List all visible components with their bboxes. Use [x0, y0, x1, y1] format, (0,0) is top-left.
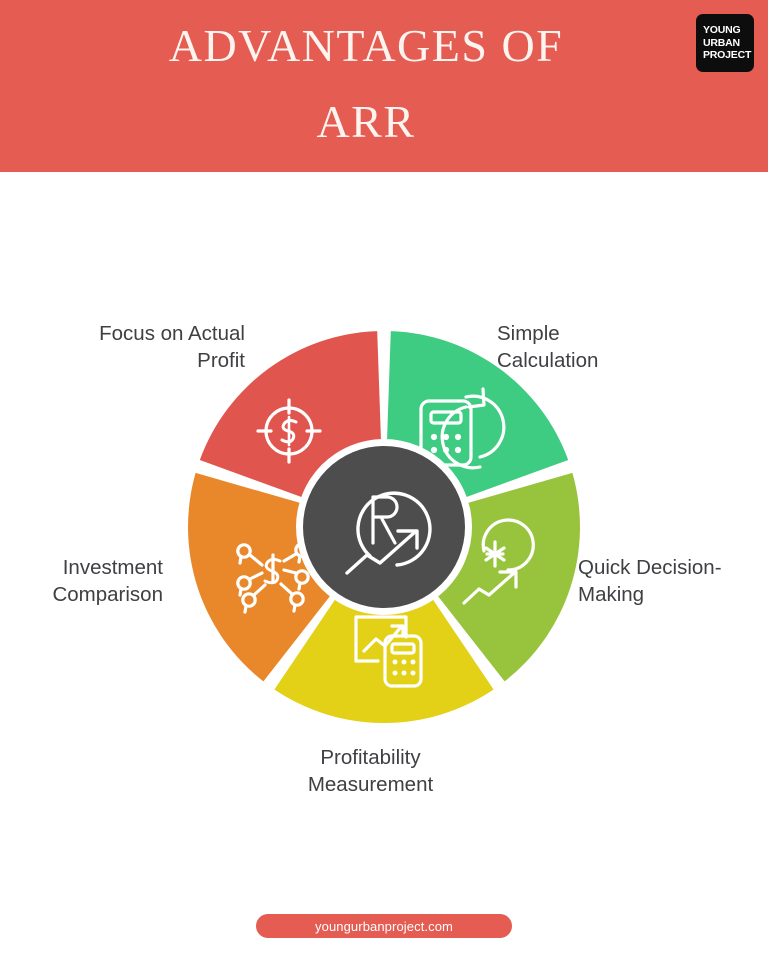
- label-investment-comparison: Investment Comparison: [10, 554, 163, 609]
- page-title: ADVANTAGES OF ARR: [66, 8, 666, 160]
- logo-line1: YOUNG: [703, 24, 754, 37]
- pie-wheel: [184, 327, 584, 727]
- website-url: youngurbanproject.com: [315, 919, 453, 934]
- logo-line2: URBAN: [703, 37, 754, 50]
- logo-line3: PROJECT: [703, 49, 754, 62]
- website-pill[interactable]: youngurbanproject.com: [256, 914, 512, 938]
- label-profitability-measurement: Profitability Measurement: [262, 744, 479, 799]
- page-title-line1: ADVANTAGES OF: [169, 20, 564, 71]
- label-quick-decision-making: Quick Decision- Making: [578, 554, 763, 609]
- wheel-diagram-area: Focus on Actual Profit Simple Calculatio…: [0, 172, 768, 872]
- header-banner: ADVANTAGES OF ARR YOUNG URBAN PROJECT: [0, 0, 768, 172]
- center-hub[interactable]: [296, 439, 472, 615]
- infographic-page: ADVANTAGES OF ARR YOUNG URBAN PROJECT Fo…: [0, 0, 768, 960]
- young-urban-project-logo: YOUNG URBAN PROJECT: [696, 14, 754, 72]
- page-title-line2: ARR: [66, 84, 666, 160]
